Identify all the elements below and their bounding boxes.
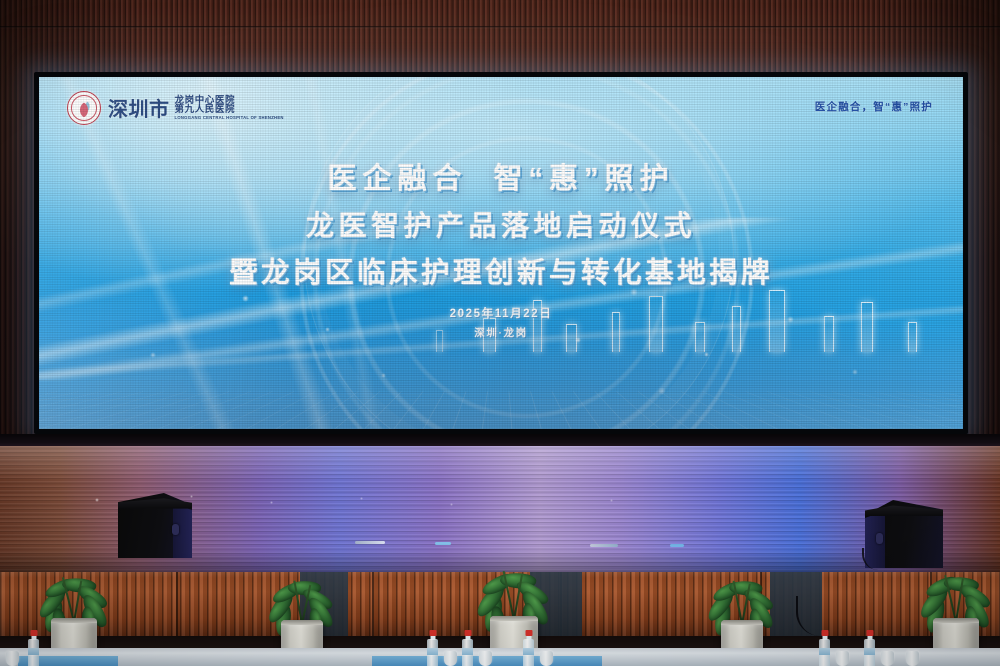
paper-cup	[540, 651, 553, 666]
stage-monitor-speaker-left	[118, 493, 192, 558]
water-bottle	[819, 630, 830, 666]
title-line-1-right: 智“惠”照护	[494, 163, 675, 195]
water-bottle	[28, 630, 39, 666]
water-bottle	[462, 630, 473, 666]
paper-cup	[6, 651, 19, 666]
title-line-2: 龙医智护产品落地启动仪式	[39, 204, 963, 244]
event-title-block: 医企融合智“惠”照护 龙医智护产品落地启动仪式 暨龙岗区临床护理创新与转化基地揭…	[39, 155, 963, 340]
hospital-seal-icon	[67, 91, 101, 125]
title-line-1-left: 医企融合	[327, 163, 467, 195]
water-bottle	[523, 630, 534, 666]
stage-photo-scene: 深圳市 龙岗中心医院 第九人民医院 LONGGANG CENTRAL HOSPI…	[0, 0, 1000, 666]
title-line-1: 医企融合智“惠”照护	[39, 155, 963, 197]
water-bottle	[864, 630, 875, 666]
hospital-logo: 深圳市 龙岗中心医院 第九人民医院 LONGGANG CENTRAL HOSPI…	[67, 91, 284, 125]
paper-cup	[444, 651, 457, 666]
logo-english-name: LONGGANG CENTRAL HOSPITAL OF SHENZHEN	[175, 116, 284, 120]
corner-slogan: 医企融合，智“惠”照护	[815, 99, 933, 114]
paper-cup	[906, 651, 919, 666]
paper-cup	[479, 651, 492, 666]
title-line-3: 暨龙岗区临床护理创新与转化基地揭牌	[39, 250, 963, 291]
logo-city-name: 深圳市	[108, 100, 170, 120]
logo-hospital-name-2: 第九人民医院	[175, 105, 284, 115]
event-location: 深圳·龙岗	[39, 325, 963, 340]
led-screen: 深圳市 龙岗中心医院 第九人民医院 LONGGANG CENTRAL HOSPI…	[34, 72, 968, 434]
event-date: 2025年11月22日	[39, 305, 963, 321]
paper-cup	[881, 651, 894, 666]
water-bottle	[427, 630, 438, 666]
paper-cup	[836, 651, 849, 666]
